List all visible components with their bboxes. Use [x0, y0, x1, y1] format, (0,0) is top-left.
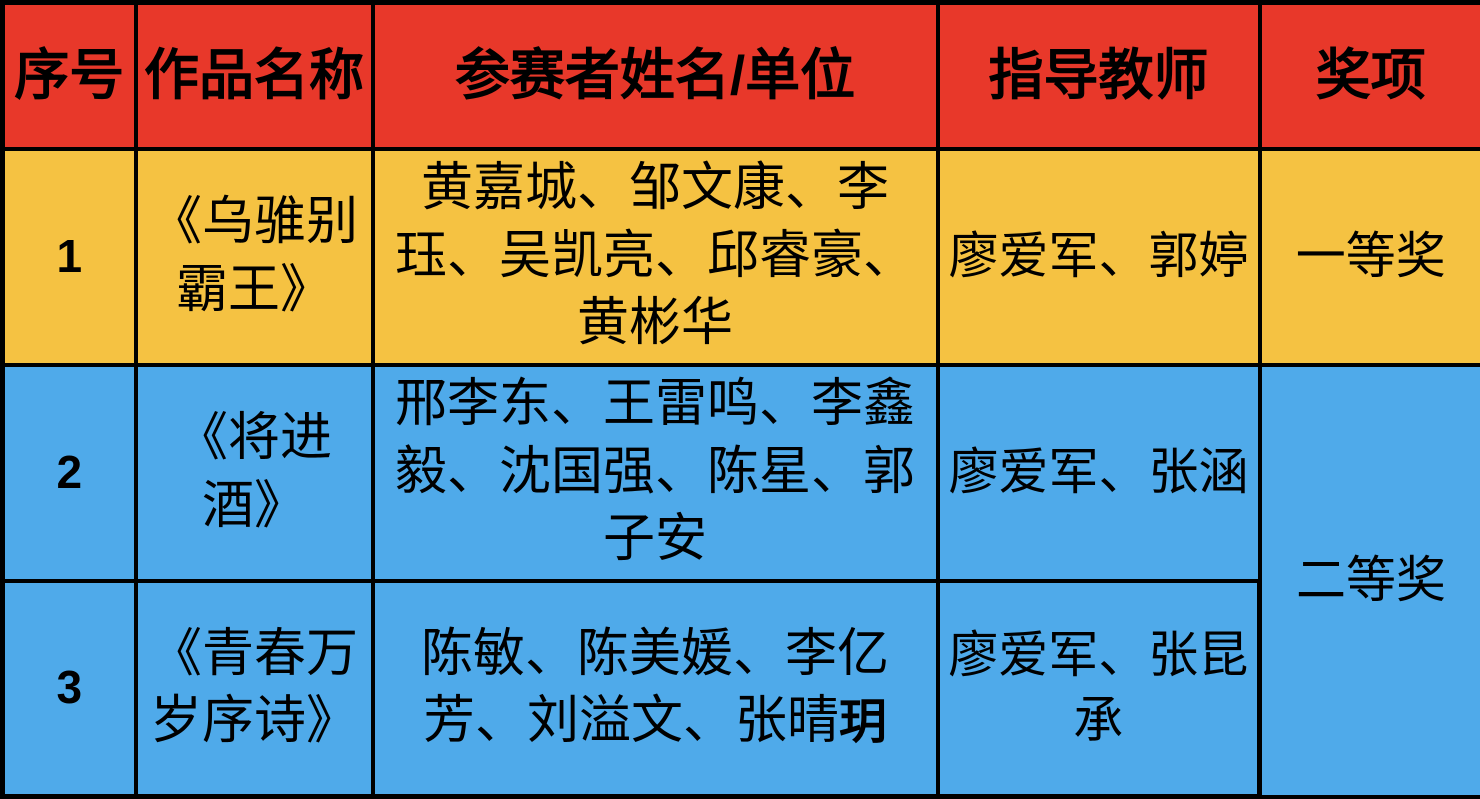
cell-title: 《乌骓别霸王》	[136, 149, 373, 365]
cell-members: 邢李东、王雷鸣、李鑫毅、沈国强、陈星、郭子安	[373, 365, 938, 581]
cell-award-merged: 二等奖	[1260, 365, 1480, 797]
cell-no: 1	[3, 149, 136, 365]
table-row: 1 《乌骓别霸王》 黄嘉城、邹文康、李珏、吴凯亮、邱睿豪、黄彬华 廖爱军、郭婷 …	[3, 149, 1480, 365]
table-header: 序号 作品名称 参赛者姓名/单位 指导教师 奖项	[3, 3, 1480, 149]
column-header-teacher: 指导教师	[938, 3, 1260, 149]
table-body: 1 《乌骓别霸王》 黄嘉城、邹文康、李珏、吴凯亮、邱睿豪、黄彬华 廖爱军、郭婷 …	[3, 149, 1480, 797]
column-header-no: 序号	[3, 3, 136, 149]
cell-title: 《将进酒》	[136, 365, 373, 581]
cell-members: 陈敏、陈美媛、李亿芳、刘溢文、张晴玥	[373, 581, 938, 797]
cell-teacher: 廖爱军、张涵	[938, 365, 1260, 581]
column-header-award: 奖项	[1260, 3, 1480, 149]
award-results-table: 序号 作品名称 参赛者姓名/单位 指导教师 奖项 1 《乌骓别霸王》 黄嘉城、邹…	[0, 0, 1480, 799]
cell-no: 3	[3, 581, 136, 797]
cell-members-main: 陈敏、陈美媛、李亿芳、刘溢文、张晴	[421, 626, 889, 751]
cell-no: 2	[3, 365, 136, 581]
cell-title: 《青春万岁序诗》	[136, 581, 373, 797]
table-row: 2 《将进酒》 邢李东、王雷鸣、李鑫毅、沈国强、陈星、郭子安 廖爱军、张涵 二等…	[3, 365, 1480, 581]
cell-teacher: 廖爱军、张昆承	[938, 581, 1260, 797]
cell-teacher: 廖爱军、郭婷	[938, 149, 1260, 365]
cell-members-tail: 玥	[839, 694, 887, 750]
column-header-members: 参赛者姓名/单位	[373, 3, 938, 149]
column-header-title: 作品名称	[136, 3, 373, 149]
cell-award: 一等奖	[1260, 149, 1480, 365]
cell-members: 黄嘉城、邹文康、李珏、吴凯亮、邱睿豪、黄彬华	[373, 149, 938, 365]
table-row: 3 《青春万岁序诗》 陈敏、陈美媛、李亿芳、刘溢文、张晴玥 廖爱军、张昆承	[3, 581, 1480, 797]
header-row: 序号 作品名称 参赛者姓名/单位 指导教师 奖项	[3, 3, 1480, 149]
